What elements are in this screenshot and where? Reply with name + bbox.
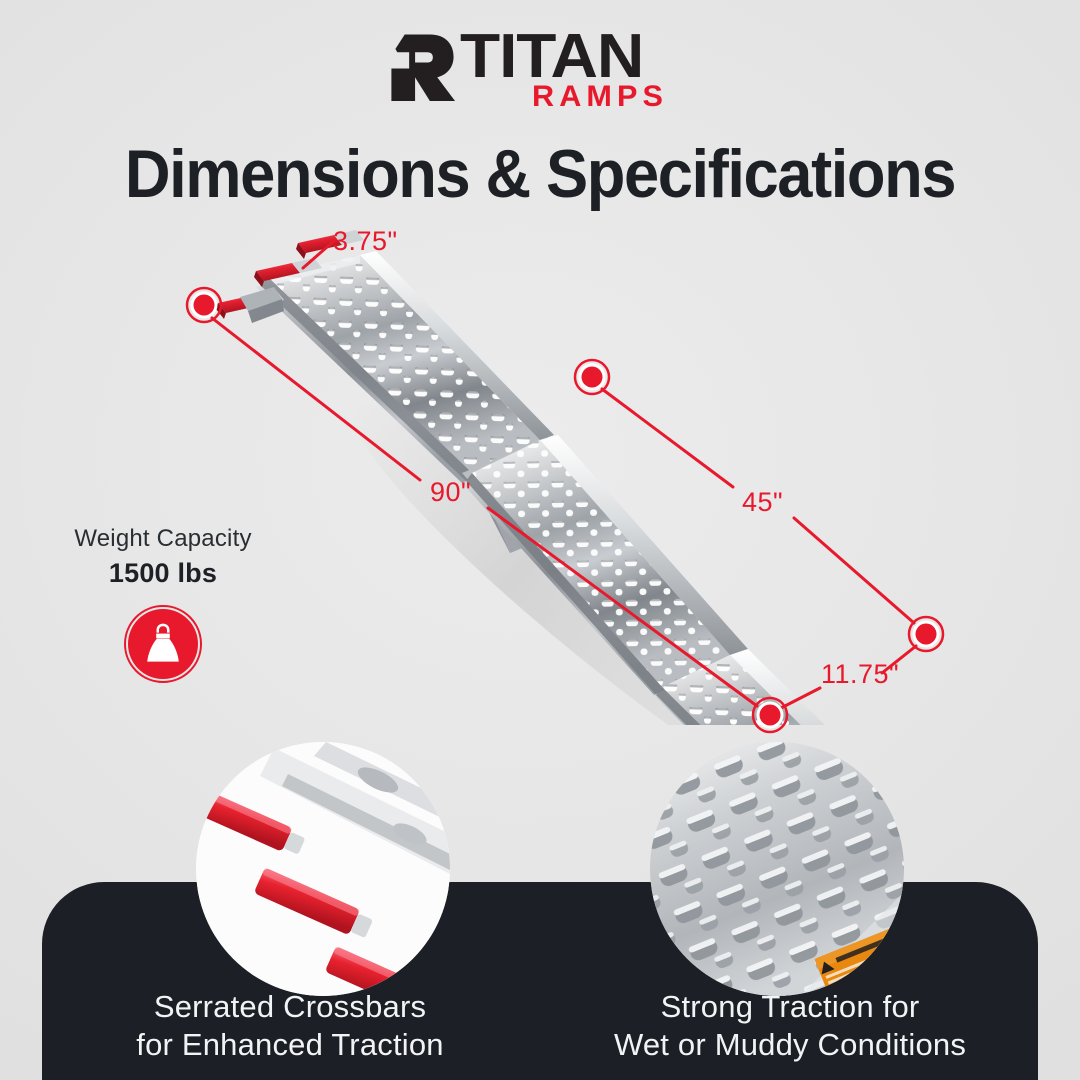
- feature-caption-line2: Wet or Muddy Conditions: [555, 1026, 1025, 1064]
- weight-capacity-value: 1500 lbs: [38, 558, 288, 589]
- perforated-deck-photo: [650, 742, 904, 996]
- product-image-ramp: [210, 225, 1010, 725]
- dimension-label-width: 11.75": [821, 659, 899, 690]
- feature-caption-line2: for Enhanced Traction: [55, 1026, 525, 1064]
- feature-caption-line1: Serrated Crossbars: [55, 988, 525, 1026]
- dimension-label-half-length: 45": [742, 487, 783, 518]
- dimension-label-height: 3.75": [333, 226, 398, 257]
- dimension-label-total-length: 90": [430, 477, 471, 508]
- weight-capacity-label: Weight Capacity: [38, 525, 288, 553]
- infographic-canvas: TITAN RAMPS Dimensions & Specifications: [0, 0, 1080, 1080]
- feature-caption-serrated-crossbars: Serrated Crossbars for Enhanced Traction: [55, 988, 525, 1064]
- brand-logo: TITAN RAMPS: [0, 28, 1080, 116]
- feature-caption-strong-traction: Strong Traction for Wet or Muddy Conditi…: [555, 988, 1025, 1064]
- brand-subname: RAMPS: [532, 82, 668, 112]
- red-serrated-crossbars-photo: [196, 742, 450, 996]
- feature-caption-line1: Strong Traction for: [555, 988, 1025, 1026]
- titan-r-monogram-icon: [384, 30, 458, 104]
- weight-glyph-icon: [143, 623, 183, 665]
- brand-name: TITAN: [460, 26, 643, 88]
- weight-capacity-block: Weight Capacity 1500 lbs: [38, 525, 288, 683]
- page-title: Dimensions & Specifications: [38, 138, 1042, 210]
- weight-kettlebell-icon: [124, 605, 202, 683]
